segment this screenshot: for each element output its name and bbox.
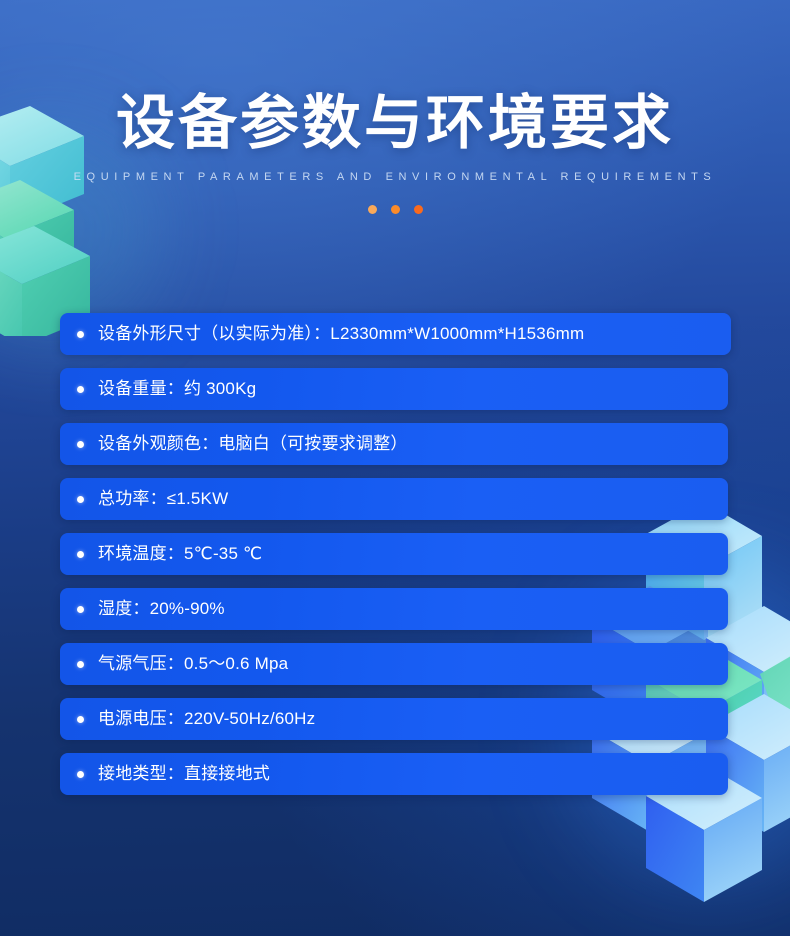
list-item: 接地类型：直接接地式 <box>60 753 728 795</box>
spec-list: 设备外形尺寸（以实际为准）：L2330mm*W1000mm*H1536mm 设备… <box>60 313 732 808</box>
list-item-label: 湿度：20%-90% <box>98 588 225 630</box>
list-item: 设备外形尺寸（以实际为准）：L2330mm*W1000mm*H1536mm <box>60 313 731 355</box>
bullet-icon <box>77 441 84 448</box>
list-item: 总功率：≤1.5KW <box>60 478 728 520</box>
list-item: 设备重量：约 300Kg <box>60 368 728 410</box>
list-item-label: 设备重量：约 300Kg <box>98 368 256 410</box>
list-item: 电源电压：220V-50Hz/60Hz <box>60 698 728 740</box>
list-item: 设备外观颜色：电脑白（可按要求调整） <box>60 423 728 465</box>
list-item: 气源气压：0.5～0.6 Mpa <box>60 643 728 685</box>
list-item-label: 设备外观颜色：电脑白（可按要求调整） <box>98 423 408 465</box>
dot-icon-1 <box>368 205 377 214</box>
header: 设备参数与环境要求 EQUIPMENT PARAMETERS AND ENVIR… <box>0 0 790 214</box>
bullet-icon <box>77 716 84 723</box>
list-item-label: 电源电压：220V-50Hz/60Hz <box>98 698 315 740</box>
list-item: 环境温度：5℃-35 ℃ <box>60 533 728 575</box>
bullet-icon <box>77 771 84 778</box>
list-item-label: 气源气压：0.5～0.6 Mpa <box>98 643 288 685</box>
page-subtitle: EQUIPMENT PARAMETERS AND ENVIRONMENTAL R… <box>0 155 790 183</box>
page-title: 设备参数与环境要求 <box>0 0 790 155</box>
bullet-icon <box>77 661 84 668</box>
list-item-label: 接地类型：直接接地式 <box>98 753 270 795</box>
list-item: 湿度：20%-90% <box>60 588 728 630</box>
equipment-parameters-page: 设备参数与环境要求 EQUIPMENT PARAMETERS AND ENVIR… <box>0 0 790 936</box>
bullet-icon <box>77 386 84 393</box>
list-item-label: 总功率：≤1.5KW <box>98 478 228 520</box>
bullet-icon <box>77 496 84 503</box>
bullet-icon <box>77 331 84 338</box>
bullet-icon <box>77 551 84 558</box>
list-item-label: 环境温度：5℃-35 ℃ <box>98 533 262 575</box>
decorative-dots <box>350 183 440 214</box>
dot-icon-2 <box>391 205 400 214</box>
dot-icon-3 <box>414 205 423 214</box>
bullet-icon <box>77 606 84 613</box>
list-item-label: 设备外形尺寸（以实际为准）：L2330mm*W1000mm*H1536mm <box>98 313 584 355</box>
